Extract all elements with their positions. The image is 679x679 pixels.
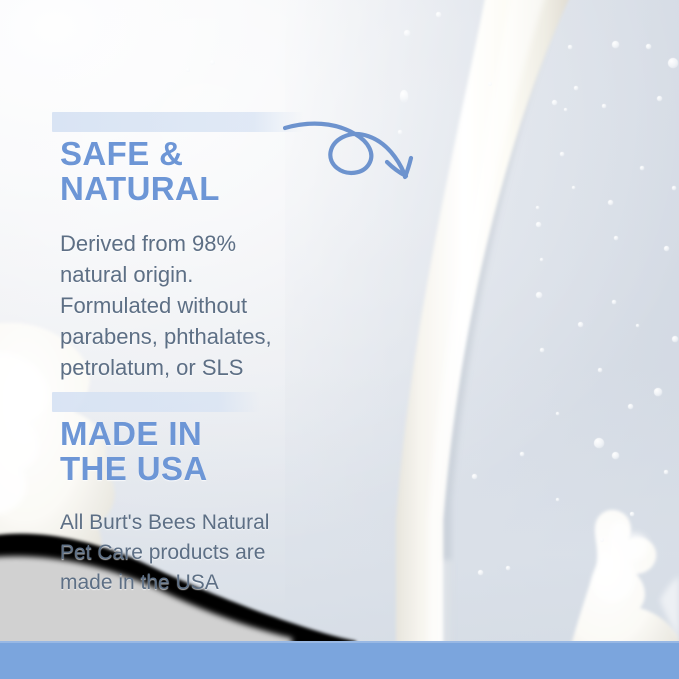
headline-made-in-usa: MADE IN THE USA <box>60 346 208 486</box>
section-made-in-usa: MADE IN THE USA All Burt's Bees Natural … <box>60 346 269 598</box>
headline-highlight-bar <box>52 112 304 132</box>
bottom-accent-bar <box>0 641 679 679</box>
text-content: SAFE & NATURAL Derived from 98% natural … <box>0 0 679 679</box>
headline-safe-natural: SAFE & NATURAL <box>60 66 220 206</box>
banner-canvas: SAFE & NATURAL Derived from 98% natural … <box>0 0 679 679</box>
body-copy-made-in-usa: All Burt's Bees Natural Pet Care product… <box>60 508 269 598</box>
curly-arrow-doodle-icon <box>283 118 423 186</box>
bottom-bar-highlight <box>0 641 679 643</box>
section-safe-natural: SAFE & NATURAL Derived from 98% natural … <box>60 66 272 383</box>
headline-highlight-bar <box>52 392 260 412</box>
headline-made-in-usa-text: MADE IN THE USA <box>60 415 208 487</box>
headline-safe-natural-text: SAFE & NATURAL <box>60 135 220 207</box>
